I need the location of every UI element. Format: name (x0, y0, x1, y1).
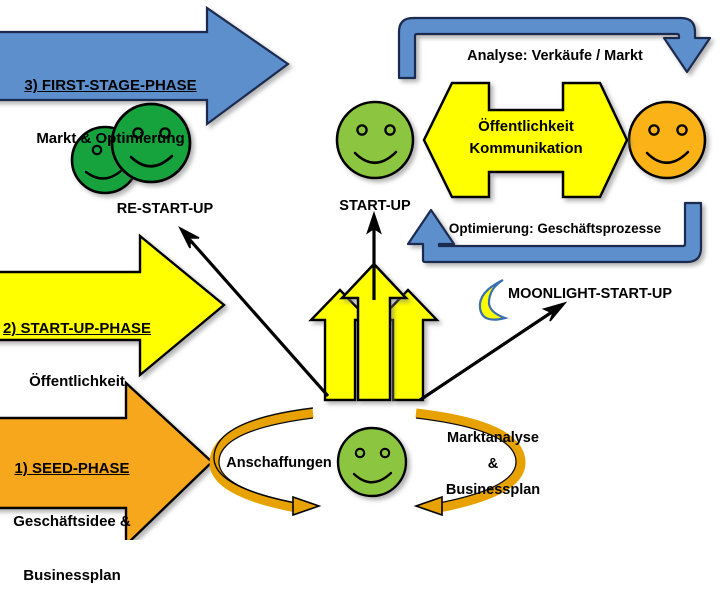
avatar-founder[interactable] (338, 428, 406, 496)
cross-arrow-kommunikation[interactable] (424, 83, 627, 197)
avatar-start-up[interactable] (337, 102, 413, 178)
loop-arrow-optimierung[interactable] (408, 203, 701, 262)
avatar-customer[interactable] (629, 102, 705, 178)
phase-arrow-start-up[interactable] (0, 236, 224, 375)
phase-arrow-seed[interactable] (0, 383, 212, 540)
crescent-moon-icon (480, 280, 505, 320)
cycle-arrow-marktanalyse[interactable] (416, 413, 521, 515)
cycle-arrow-anschaffungen[interactable] (214, 408, 319, 515)
phase-subtitle-1b: Businessplan (2, 567, 142, 585)
diagram-canvas: 3) FIRST-STAGE-PHASE Markt & Optimierung… (0, 0, 720, 540)
loop-arrow-analyse[interactable] (399, 18, 710, 78)
avatar-re-start-up[interactable] (72, 104, 190, 193)
diagram-artwork (0, 0, 720, 540)
